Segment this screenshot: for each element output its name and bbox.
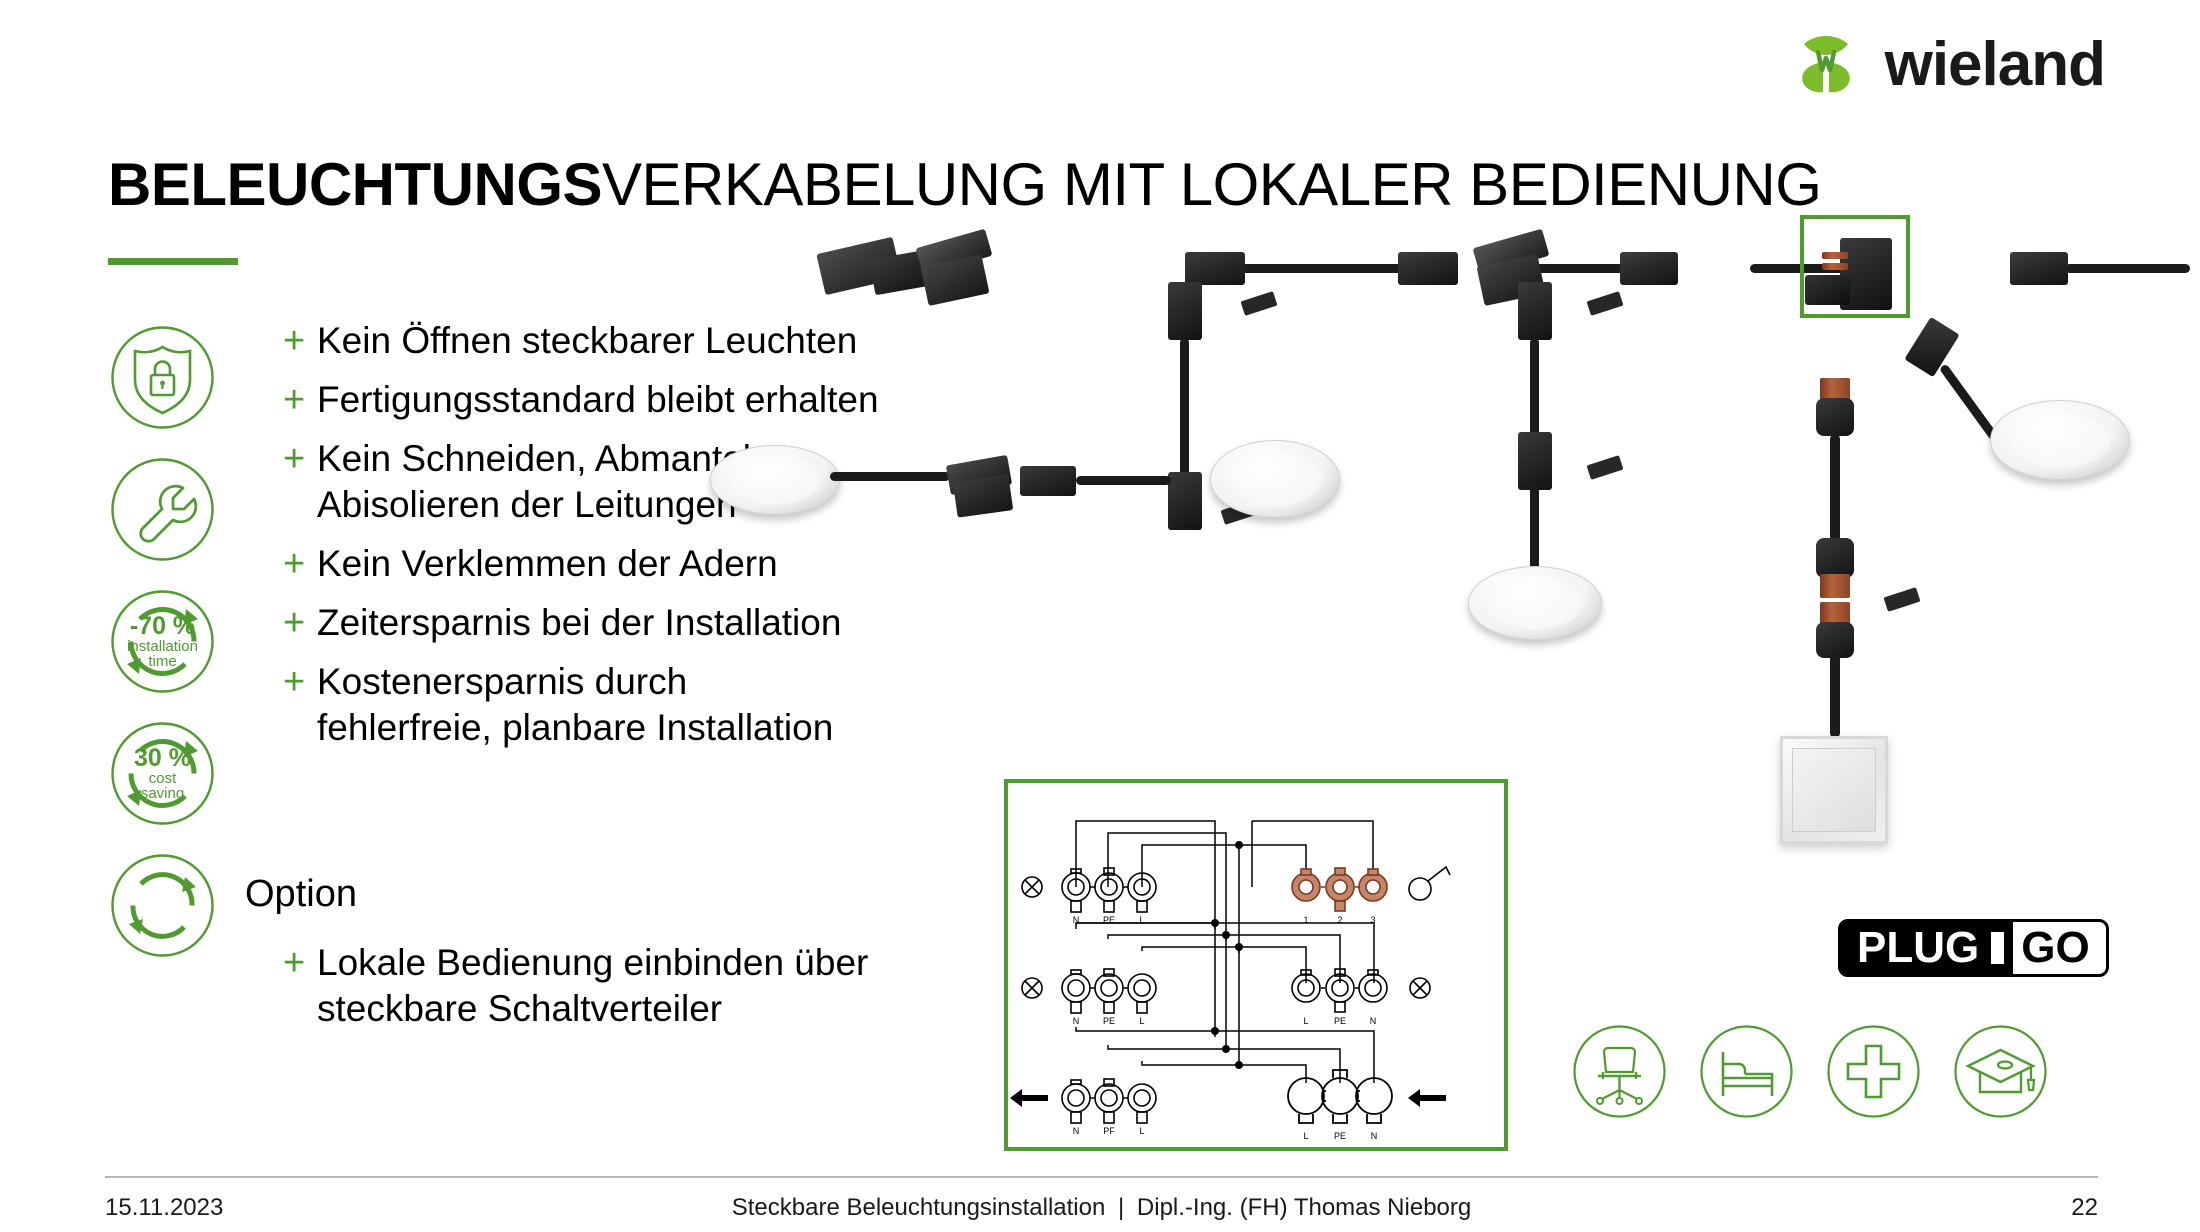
inline-coupler — [1816, 538, 1854, 578]
terminal-label: N — [1073, 1126, 1080, 1136]
benefit-bullet-list: + Kein Öffnen steckbarer Leuchten + Fert… — [283, 318, 963, 764]
cable-clip — [1241, 291, 1278, 316]
plug-connector-icon — [1991, 922, 2013, 974]
installation-time-line2: time — [148, 654, 176, 669]
terminal-label: 3 — [1370, 915, 1375, 925]
brand-wordmark: wieland — [1885, 34, 2105, 96]
diagram-row-1: N PE L 1 2 3 — [1022, 867, 1450, 925]
installation-time-badge-text: -70 % installation time — [110, 589, 215, 694]
terminal-label: PE — [1334, 1016, 1346, 1026]
benefit-icon-rail: -70 % installation time 30 % cost saving — [110, 325, 215, 958]
terminal-label: L — [1139, 1016, 1144, 1026]
list-item-label: Fertigungsstandard bleibt erhalten — [317, 377, 879, 423]
drop-connector — [1518, 432, 1552, 490]
medical-cross-icon — [1826, 1024, 1921, 1119]
list-item: + Kein Öffnen steckbarer Leuchten — [283, 318, 963, 364]
trunk-cable — [1235, 264, 1415, 273]
list-item-label: Zeitersparnis bei der Installation — [317, 600, 841, 646]
branch-cable — [1076, 476, 1171, 485]
pluggo-logo: PLUG GO — [1838, 919, 2109, 977]
wrench-icon — [110, 457, 215, 562]
cost-saving-badge: 30 % cost saving — [110, 721, 215, 826]
terminal-label: PE — [1334, 1131, 1346, 1141]
wall-switch-plate[interactable] — [1780, 736, 1888, 844]
bullet-marker: + — [283, 318, 317, 364]
cost-saving-badge-text: 30 % cost saving — [110, 721, 215, 826]
footer-divider — [105, 1176, 2098, 1178]
bullet-marker: + — [283, 940, 317, 986]
drop-cable — [1830, 434, 1840, 542]
list-item: + Kein Schneiden, Abmanteln, Abisolieren… — [283, 436, 963, 528]
arrow-left-symbol — [1010, 1089, 1048, 1107]
list-item-label: Kein Verklemmen der Adern — [317, 541, 778, 587]
drop-cable — [1830, 654, 1840, 738]
terminal-label: N — [1370, 1016, 1377, 1026]
list-item: + Kostenersparnis durch fehlerfreie, pla… — [283, 659, 963, 751]
inline-coupler — [2010, 252, 2068, 285]
footer-topic: Steckbare Beleuchtungsinstallation — [732, 1194, 1106, 1221]
drop-cable — [1180, 338, 1189, 478]
wieland-plant-logo-icon — [1793, 30, 1859, 100]
bullet-marker: + — [283, 659, 317, 705]
terminal-label: L — [1303, 1131, 1308, 1141]
pluggo-left-text: PLUG — [1841, 922, 1991, 974]
list-item-label: Kostenersparnis durch fehlerfreie, planb… — [317, 659, 833, 751]
highlight-box — [1800, 215, 1910, 318]
terminal-label: PE — [1103, 1016, 1115, 1026]
wiring-diagram: N PE L 1 2 3 — [1004, 779, 1508, 1151]
brand-logo: wieland — [1793, 30, 2105, 100]
diagram-row-3: N PF L L PE N — [1010, 1070, 1446, 1141]
terminal-label: N — [1073, 1016, 1080, 1026]
drop-connector — [1168, 472, 1202, 530]
installation-time-badge: -70 % installation time — [110, 589, 215, 694]
t-distributor — [953, 474, 1013, 517]
application-icon-row — [1572, 1024, 2048, 1119]
installation-time-line1: installation — [127, 639, 198, 654]
branch-cable — [1939, 363, 1999, 441]
luminaire-round — [1210, 440, 1340, 518]
inline-coupler — [1398, 252, 1458, 285]
cable-clip — [1587, 291, 1624, 316]
terminal-label: 2 — [1337, 915, 1342, 925]
copper-contact — [1820, 574, 1850, 598]
page-title: BELEUCHTUNGSVERKABELUNG MIT LOKALER BEDI… — [108, 150, 1821, 219]
drop-connector — [1168, 282, 1202, 340]
footer-page-number: 22 — [2071, 1194, 2098, 1222]
trunk-cable — [2065, 264, 2190, 273]
installation-time-value: -70 % — [130, 614, 195, 639]
list-item-label: Lokale Bedienung einbinden über steckbar… — [317, 940, 868, 1032]
terminal-label: L — [1139, 1126, 1144, 1136]
title-underline-rule — [108, 258, 238, 265]
option-bullet-list: + Lokale Bedienung einbinden über steckb… — [283, 940, 983, 1045]
cost-saving-line2: saving — [141, 786, 184, 801]
inline-coupler — [1020, 466, 1076, 496]
bullet-marker: + — [283, 541, 317, 587]
drop-connector — [1518, 282, 1552, 340]
bullet-marker: + — [283, 436, 317, 482]
page-title-regular: VERKABELUNG MIT LOKALER BEDIENUNG — [602, 151, 1821, 218]
cable-clip — [1587, 455, 1624, 480]
arrow-left-symbol — [1408, 1089, 1446, 1107]
list-item: + Zeitersparnis bei der Installation — [283, 600, 963, 646]
terminal-label: PE — [1103, 915, 1115, 925]
cycle-arrows-icon — [110, 853, 215, 958]
list-item: + Fertigungsstandard bleibt erhalten — [283, 377, 963, 423]
inline-coupler — [1816, 622, 1854, 658]
bullet-marker: + — [283, 377, 317, 423]
drop-cable — [1530, 486, 1539, 578]
inline-coupler — [1185, 252, 1245, 285]
shield-lock-icon — [110, 325, 215, 430]
inline-coupler — [1816, 398, 1854, 436]
pluggo-right-text: GO — [2013, 922, 2105, 974]
footer-separator: | — [1112, 1194, 1130, 1222]
cost-saving-line1: cost — [149, 771, 177, 786]
option-heading: Option — [245, 873, 357, 916]
terminal-label: N — [1073, 915, 1080, 925]
inline-coupler — [1620, 252, 1678, 285]
footer: 15.11.2023 Steckbare Beleuchtungsinstall… — [105, 1194, 2098, 1228]
bed-icon — [1699, 1024, 1794, 1119]
angled-coupler — [1904, 317, 1959, 377]
luminaire-round — [1990, 400, 2130, 480]
list-item: + Kein Verklemmen der Adern — [283, 541, 963, 587]
office-chair-icon — [1572, 1024, 1667, 1119]
copper-contact — [1820, 378, 1850, 400]
bullet-marker: + — [283, 600, 317, 646]
page-title-bold: BELEUCHTUNGS — [108, 151, 602, 218]
terminal-label: 1 — [1303, 915, 1308, 925]
drop-cable — [1530, 338, 1539, 438]
terminal-label: L — [1303, 1016, 1308, 1026]
cost-saving-value: 30 % — [134, 746, 191, 771]
luminaire-round — [1468, 566, 1602, 640]
list-item: + Lokale Bedienung einbinden über steckb… — [283, 940, 983, 1032]
footer-center: Steckbare Beleuchtungsinstallation | Dip… — [105, 1194, 2098, 1222]
terminal-label: N — [1371, 1131, 1378, 1141]
footer-author: Dipl.-Ing. (FH) Thomas Nieborg — [1137, 1194, 1471, 1221]
list-item-label: Kein Öffnen steckbarer Leuchten — [317, 318, 857, 364]
graduation-cap-icon — [1953, 1024, 2048, 1119]
branch-cable — [830, 472, 950, 481]
switch-symbol — [1409, 867, 1450, 900]
terminal-label: PF — [1103, 1126, 1115, 1136]
luminaire-round — [710, 445, 840, 515]
terminal-label: L — [1139, 915, 1144, 925]
product-photo-scene — [1010, 300, 2190, 860]
cable-clip — [1884, 587, 1921, 612]
